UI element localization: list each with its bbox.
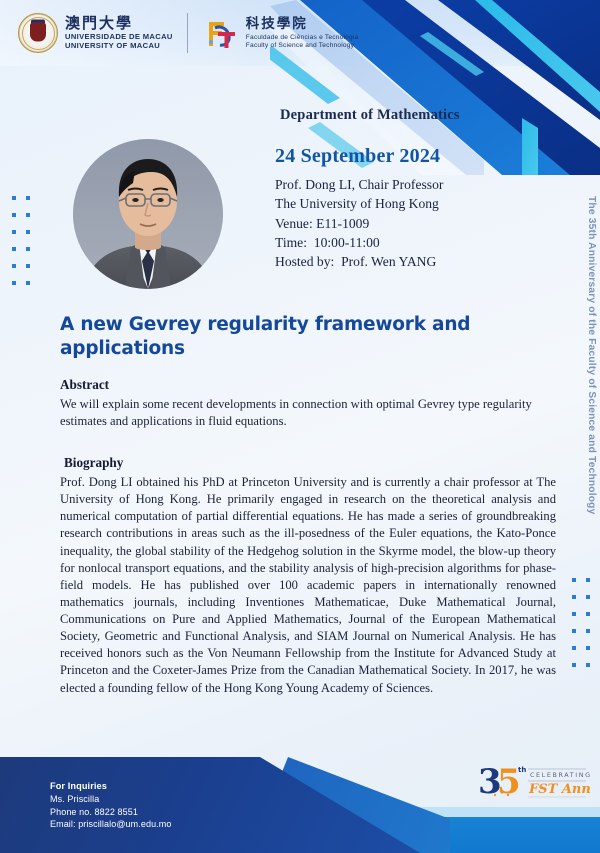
speaker-portrait xyxy=(73,139,223,289)
crest-ring xyxy=(22,17,55,50)
event-time: Time: 10:00-11:00 xyxy=(275,233,443,252)
logo-divider xyxy=(187,13,188,53)
event-date: 24 September 2024 xyxy=(275,145,443,168)
um-name-chinese: 澳門大學 xyxy=(65,16,173,32)
inquiries-heading: For Inquiries xyxy=(50,780,171,793)
fst-name-english: Faculty of Science and Technology xyxy=(246,42,359,49)
university-of-macau-crest-icon xyxy=(18,13,58,53)
university-of-macau-wordmark: 澳門大學 UNIVERSIDADE DE MACAU UNIVERSITY OF… xyxy=(65,16,173,51)
inquiries-contact-name: Ms. Priscilla xyxy=(50,793,171,806)
decorative-dot-grid-left xyxy=(12,196,40,298)
um-name-english: UNIVERSITY OF MACAU xyxy=(65,42,173,50)
fst-name-portuguese: Faculdade de Ciências e Tecnologia xyxy=(246,34,359,41)
fst-name-chinese: 科技學院 xyxy=(246,17,359,32)
event-details: 24 September 2024 Prof. Dong LI, Chair P… xyxy=(275,145,443,271)
anniversary-logo: 3 5 th CELEBRATING FST Anniversary xyxy=(478,760,590,804)
inquiries-phone: Phone no. 8822 8551 xyxy=(50,806,171,819)
abstract-text: We will explain some recent developments… xyxy=(60,396,552,430)
event-affiliation: The University of Hong Kong xyxy=(275,194,443,213)
decorative-dot-grid-right xyxy=(572,578,600,680)
anniv-subtitle: FST Anniversary xyxy=(528,782,590,797)
anniversary-vertical-text: The 35th Anniversary of the Faculty of S… xyxy=(586,196,597,514)
anniv-superscript: th xyxy=(518,766,526,774)
inquiries-email: Email: priscillalo@um.edu.mo xyxy=(50,818,171,831)
talk-title: A new Gevrey regularity framework and ap… xyxy=(60,313,490,362)
logo-row: 澳門大學 UNIVERSIDADE DE MACAU UNIVERSITY OF… xyxy=(18,8,358,58)
inquiries-block: For Inquiries Ms. Priscilla Phone no. 88… xyxy=(50,780,171,831)
fst-wordmark: 科技學院 Faculdade de Ciências e Tecnologia … xyxy=(246,17,359,49)
fst-monogram-icon xyxy=(202,14,240,52)
abstract-section: Abstract We will explain some recent dev… xyxy=(60,377,552,430)
abstract-heading: Abstract xyxy=(60,377,552,393)
department-label: Department of Mathematics xyxy=(280,107,460,124)
event-venue: Venue: E11-1009 xyxy=(275,214,443,233)
biography-heading: Biography xyxy=(64,455,556,471)
anniv-celebrating-label: CELEBRATING xyxy=(530,771,590,779)
um-name-portuguese: UNIVERSIDADE DE MACAU xyxy=(65,33,173,41)
event-speaker: Prof. Dong LI, Chair Professor xyxy=(275,175,443,194)
event-host: Hosted by: Prof. Wen YANG xyxy=(275,252,443,271)
biography-section: Biography Prof. Dong LI obtained his PhD… xyxy=(60,455,556,697)
poster-root: 澳門大學 UNIVERSIDADE DE MACAU UNIVERSITY OF… xyxy=(0,0,600,853)
biography-text: Prof. Dong LI obtained his PhD at Prince… xyxy=(60,474,556,697)
